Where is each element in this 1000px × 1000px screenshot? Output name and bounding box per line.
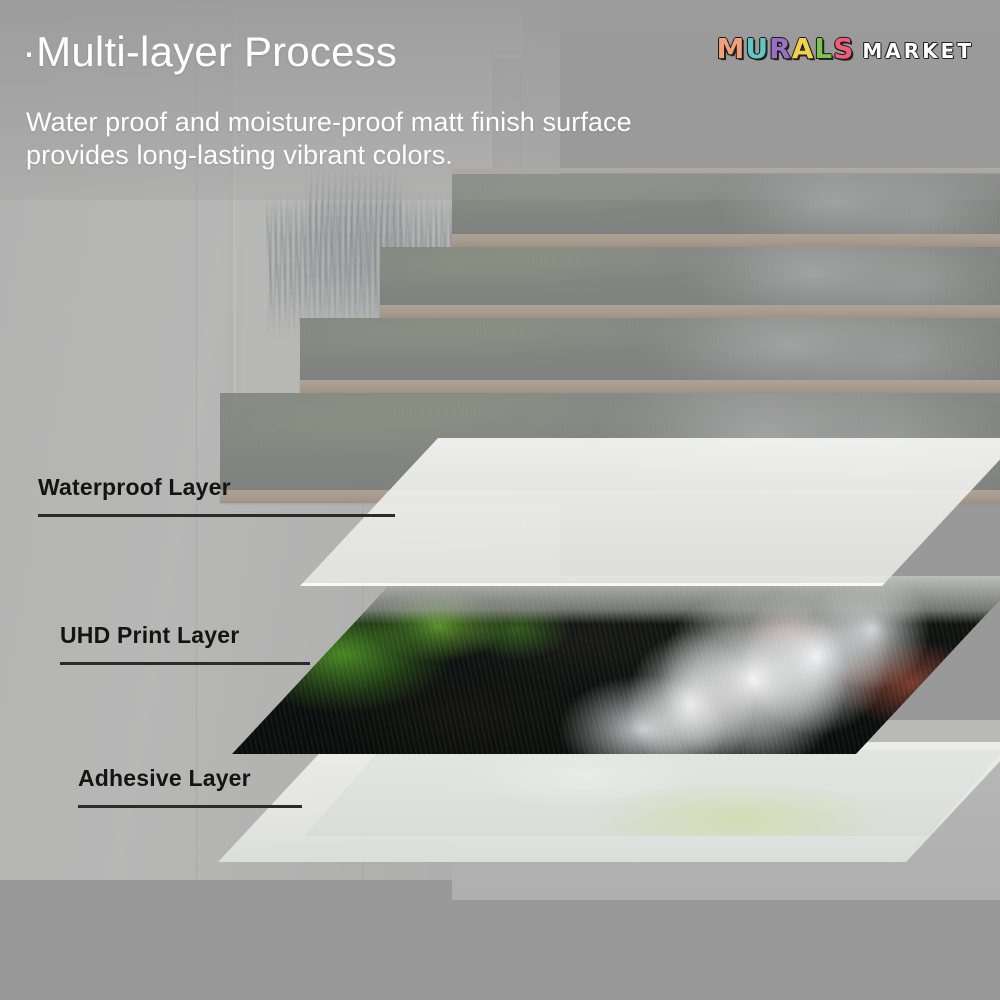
layer-label-waterproof: Waterproof Layer bbox=[38, 474, 395, 517]
brand-logo: MURALS MARKET bbox=[717, 32, 974, 65]
page-subtitle: Water proof and moisture-proof matt fini… bbox=[26, 106, 632, 172]
brand-logo-murals: MURALS bbox=[717, 32, 855, 65]
brand-logo-letter: U bbox=[745, 32, 769, 65]
brand-logo-letter: A bbox=[792, 32, 815, 65]
infographic-canvas: ·Multi-layer Process Water proof and moi… bbox=[0, 0, 1000, 1000]
brand-logo-letter: M bbox=[717, 32, 746, 65]
brand-logo-letter: L bbox=[814, 32, 833, 65]
brand-logo-market: MARKET bbox=[862, 39, 974, 63]
layer-label-adhesive: Adhesive Layer bbox=[78, 765, 302, 808]
layer-label-uhd-print-text: UHD Print Layer bbox=[60, 622, 310, 649]
brand-logo-letter: R bbox=[769, 32, 792, 65]
adhesive-layer-sheet bbox=[218, 742, 1000, 862]
page-title: ·Multi-layer Process bbox=[22, 28, 397, 75]
layer-label-uhd-print: UHD Print Layer bbox=[60, 622, 310, 665]
brand-logo-letter: S bbox=[833, 32, 854, 65]
layer-label-adhesive-text: Adhesive Layer bbox=[78, 765, 302, 792]
adhesive-layer-inner bbox=[304, 750, 1000, 836]
layer-label-uhd-print-rule bbox=[60, 662, 310, 665]
layer-label-waterproof-text: Waterproof Layer bbox=[38, 474, 395, 501]
layer-label-waterproof-rule bbox=[38, 514, 395, 517]
layer-label-adhesive-rule bbox=[78, 805, 302, 808]
